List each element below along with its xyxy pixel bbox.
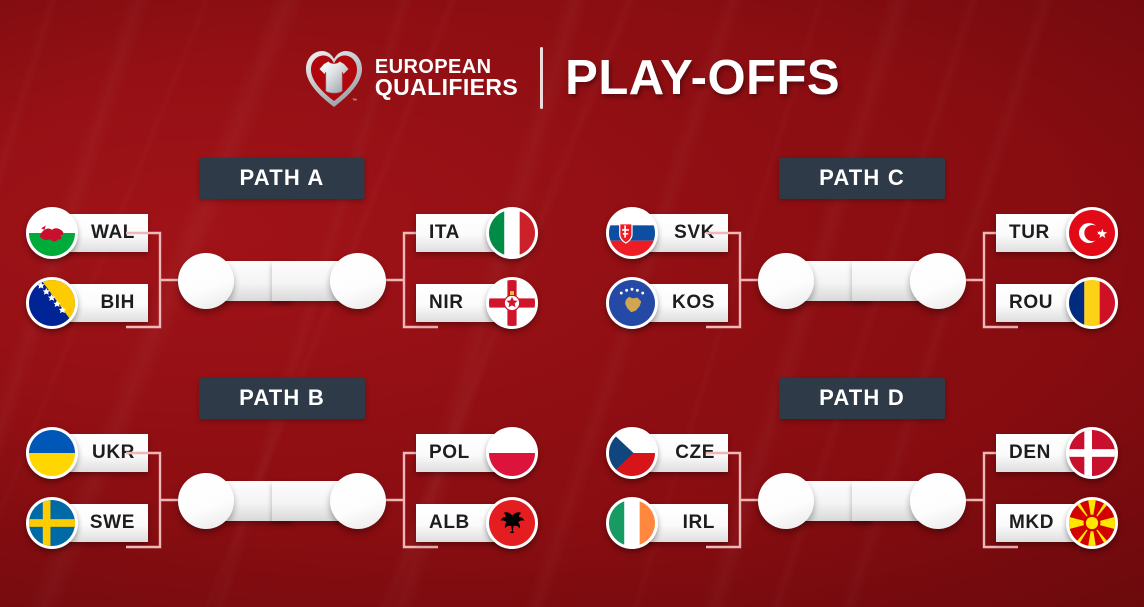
bosnia-herzegovina-flag-icon bbox=[26, 277, 78, 329]
connector-left bbox=[126, 430, 184, 570]
semifinal-winner-slot-right[interactable] bbox=[272, 473, 386, 529]
team-alb[interactable]: ALB bbox=[416, 500, 538, 546]
path-block-d: PATH D CZE IRL bbox=[588, 378, 1136, 578]
sweden-flag-icon bbox=[26, 497, 78, 549]
path-b-bracket: UKR SWE bbox=[8, 422, 556, 578]
path-a-title: PATH A bbox=[199, 158, 364, 199]
denmark-flag-icon bbox=[1066, 427, 1118, 479]
path-a-bracket: WAL BIH bbox=[8, 202, 556, 358]
slot-badge bbox=[330, 253, 386, 309]
slot-badge bbox=[330, 473, 386, 529]
path-block-c: PATH C SVK KOS bbox=[588, 158, 1136, 358]
team-den[interactable]: DEN bbox=[996, 430, 1118, 476]
poland-flag-icon bbox=[486, 427, 538, 479]
slot-badge bbox=[910, 253, 966, 309]
northern-ireland-flag-icon bbox=[486, 277, 538, 329]
slot-badge bbox=[178, 253, 234, 309]
path-block-b: PATH B UKR SWE bbox=[8, 378, 556, 578]
north-macedonia-flag-icon bbox=[1066, 497, 1118, 549]
connector-left bbox=[126, 210, 184, 350]
team-rou[interactable]: ROU bbox=[996, 280, 1118, 326]
wales-flag-icon bbox=[26, 207, 78, 259]
page-title: PLAY-OFFS bbox=[565, 50, 840, 106]
connector-left bbox=[706, 430, 764, 570]
semifinal-winner-slot-right[interactable] bbox=[272, 253, 386, 309]
european-qualifiers-logo: ™ EUROPEAN QUALIFIERS bbox=[304, 47, 518, 109]
team-ita[interactable]: ITA bbox=[416, 210, 538, 256]
connector-left bbox=[706, 210, 764, 350]
albania-flag-icon bbox=[486, 497, 538, 549]
team-nir[interactable]: NIR bbox=[416, 280, 538, 326]
header-divider bbox=[540, 47, 543, 109]
team-mkd[interactable]: MKD bbox=[996, 500, 1118, 546]
republic-of-ireland-flag-icon bbox=[606, 497, 658, 549]
slot-badge bbox=[910, 473, 966, 529]
turkey-flag-icon bbox=[1066, 207, 1118, 259]
path-block-a: PATH A WAL BIH bbox=[8, 158, 556, 358]
slovakia-flag-icon bbox=[606, 207, 658, 259]
path-b-title: PATH B bbox=[199, 378, 365, 419]
slot-badge bbox=[758, 473, 814, 529]
path-d-bracket: CZE IRL bbox=[588, 422, 1136, 578]
wordmark-line-2: QUALIFIERS bbox=[375, 77, 518, 98]
european-qualifiers-emblem: ™ bbox=[304, 47, 364, 109]
path-d-title: PATH D bbox=[779, 378, 945, 419]
path-c-title: PATH C bbox=[779, 158, 945, 199]
romania-flag-icon bbox=[1066, 277, 1118, 329]
header: ™ EUROPEAN QUALIFIERS PLAY-OFFS bbox=[0, 47, 1144, 109]
slot-badge bbox=[758, 253, 814, 309]
team-tur[interactable]: TUR bbox=[996, 210, 1118, 256]
path-c-bracket: SVK KOS bbox=[588, 202, 1136, 358]
slot-badge bbox=[178, 473, 234, 529]
kosovo-flag-icon bbox=[606, 277, 658, 329]
semifinal-winner-slot-right[interactable] bbox=[852, 253, 966, 309]
svg-text:™: ™ bbox=[352, 98, 357, 104]
semifinal-winner-slot-right[interactable] bbox=[852, 473, 966, 529]
ukraine-flag-icon bbox=[26, 427, 78, 479]
czechia-flag-icon bbox=[606, 427, 658, 479]
european-qualifiers-wordmark: EUROPEAN QUALIFIERS bbox=[375, 58, 518, 98]
team-pol[interactable]: POL bbox=[416, 430, 538, 476]
italy-flag-icon bbox=[486, 207, 538, 259]
